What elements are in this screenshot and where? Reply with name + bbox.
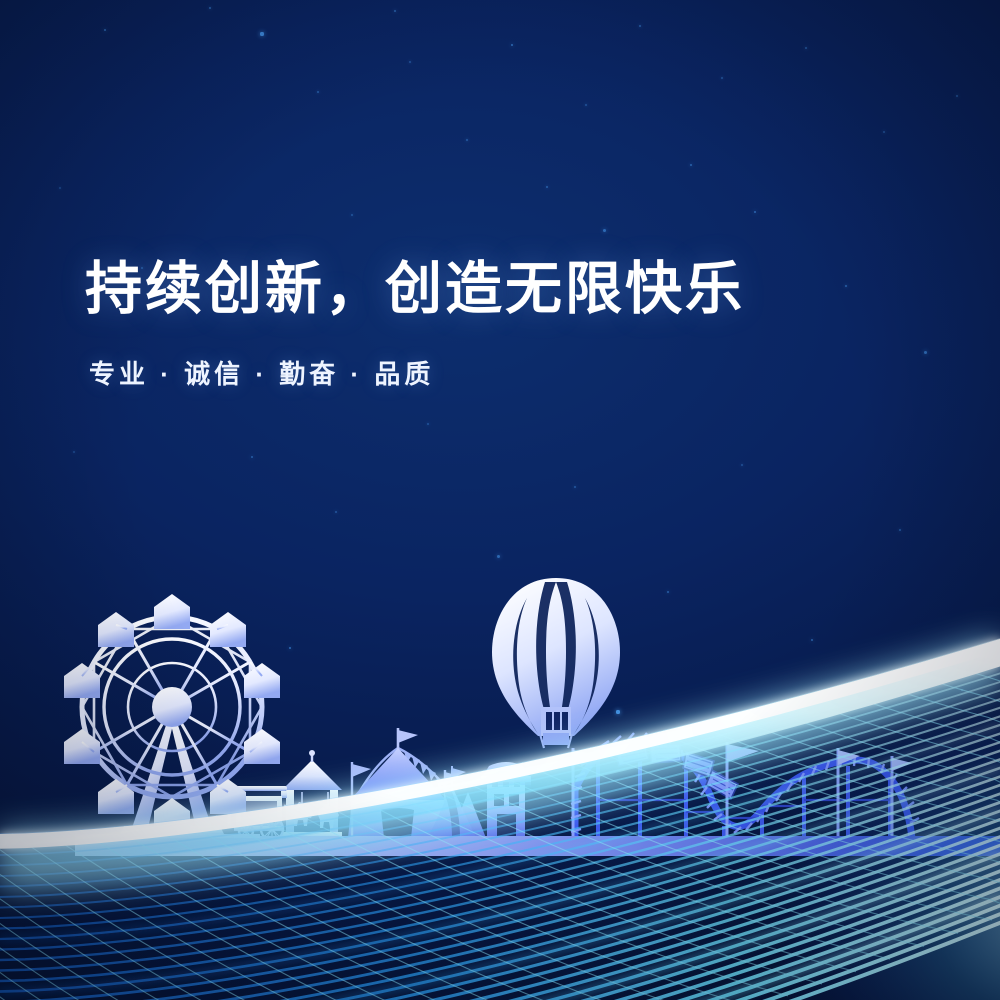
hero-subline: 专业 · 诚信 · 勤奋 · 品质	[89, 354, 905, 391]
page-title: 持续创新，创造无限快乐	[85, 258, 905, 322]
glowing-wave	[0, 0, 1000, 1000]
promo-banner: 持续创新，创造无限快乐 专业 · 诚信 · 勤奋 · 品质	[0, 0, 1000, 1000]
hero-copy: 持续创新，创造无限快乐 专业 · 诚信 · 勤奋 · 品质	[85, 258, 905, 391]
